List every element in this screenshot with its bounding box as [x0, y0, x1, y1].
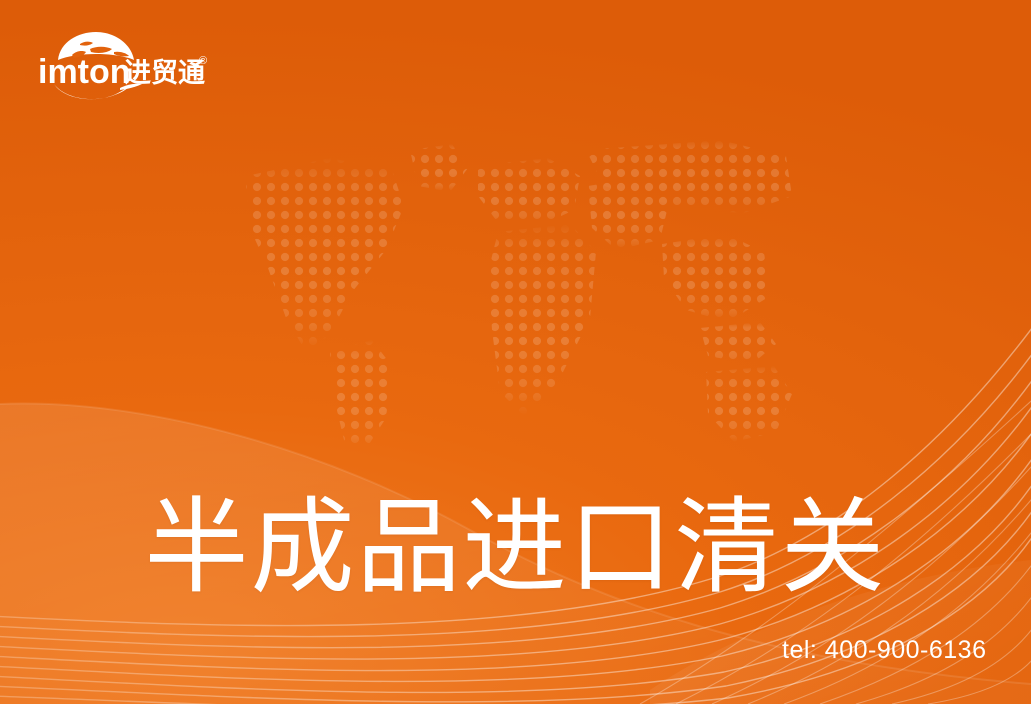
- contact-phone[interactable]: tel: 400-900-6136: [782, 636, 986, 665]
- headline: 半成品进口清关 代理公司: [0, 228, 1031, 704]
- company-logo[interactable]: imton 进贸通 ®: [36, 30, 216, 102]
- headline-line-1: 半成品进口清关: [0, 484, 1031, 612]
- logo-wordmark: imton: [38, 53, 131, 91]
- logo-chinese-name: 进贸通: [124, 58, 205, 88]
- promo-banner: imton 进贸通 ® 半成品进口清关 代理公司 tel: 400-900-61…: [0, 0, 1031, 704]
- registered-trademark-icon: ®: [199, 55, 207, 67]
